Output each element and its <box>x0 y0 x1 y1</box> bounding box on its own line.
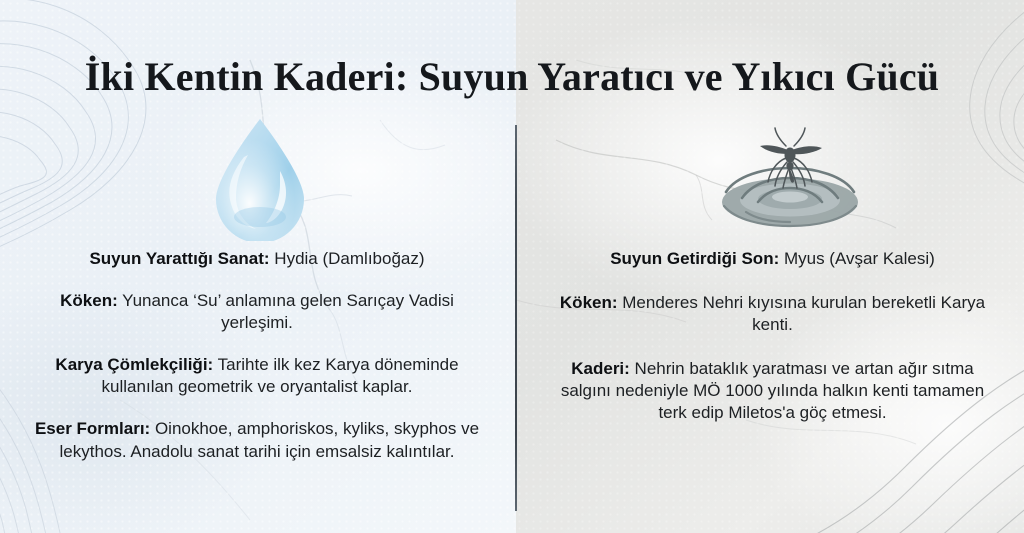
right-entry-2: Kaderi: Nehrin bataklık yaratması ve art… <box>545 358 1000 424</box>
right-entry-1-label: Köken: <box>560 293 618 312</box>
right-entry-1: Köken: Menderes Nehri kıyısına kurulan b… <box>545 292 1000 336</box>
left-entry-1-label: Köken: <box>60 291 118 310</box>
mosquito-over-water-ripples-icon <box>700 118 880 233</box>
left-entry-3: Eser Formları: Oinokhoe, amphoriskos, ky… <box>22 418 492 462</box>
right-entry-1-text: Menderes Nehri kıyısına kurulan bereketl… <box>618 293 986 334</box>
left-entry-0-text: Hydia (Damlıboğaz) <box>270 249 425 268</box>
water-drop-icon <box>190 112 330 242</box>
mosquito-shape <box>760 128 822 188</box>
left-entry-1-text: Yunanca ‘Su’ anlamına gelen Sarıçay Vadi… <box>118 291 454 332</box>
center-divider <box>515 125 517 511</box>
left-entry-list: Suyun Yarattığı Sanat: Hydia (Damlıboğaz… <box>22 248 492 463</box>
right-entry-2-label: Kaderi: <box>571 359 630 378</box>
left-entry-2-label: Karya Çömlekçiliği: <box>55 355 213 374</box>
left-entry-0: Suyun Yarattığı Sanat: Hydia (Damlıboğaz… <box>22 248 492 270</box>
right-entry-0: Suyun Getirdiği Son: Myus (Avşar Kalesi) <box>545 248 1000 270</box>
left-entry-3-label: Eser Formları: <box>35 419 150 438</box>
slide-root: İki Kentin Kaderi: Suyun Yaratıcı ve Yık… <box>0 0 1024 533</box>
page-title: İki Kentin Kaderi: Suyun Yaratıcı ve Yık… <box>0 54 1024 100</box>
left-entry-0-label: Suyun Yarattığı Sanat: <box>89 249 269 268</box>
right-entry-0-text: Myus (Avşar Kalesi) <box>779 249 935 268</box>
left-entry-1: Köken: Yunanca ‘Su’ anlamına gelen Sarıç… <box>22 290 492 334</box>
right-entry-list: Suyun Getirdiği Son: Myus (Avşar Kalesi)… <box>545 248 1000 425</box>
right-entry-0-label: Suyun Getirdiği Son: <box>610 249 779 268</box>
left-entry-2: Karya Çömlekçiliği: Tarihte ilk kez Kary… <box>22 354 492 398</box>
